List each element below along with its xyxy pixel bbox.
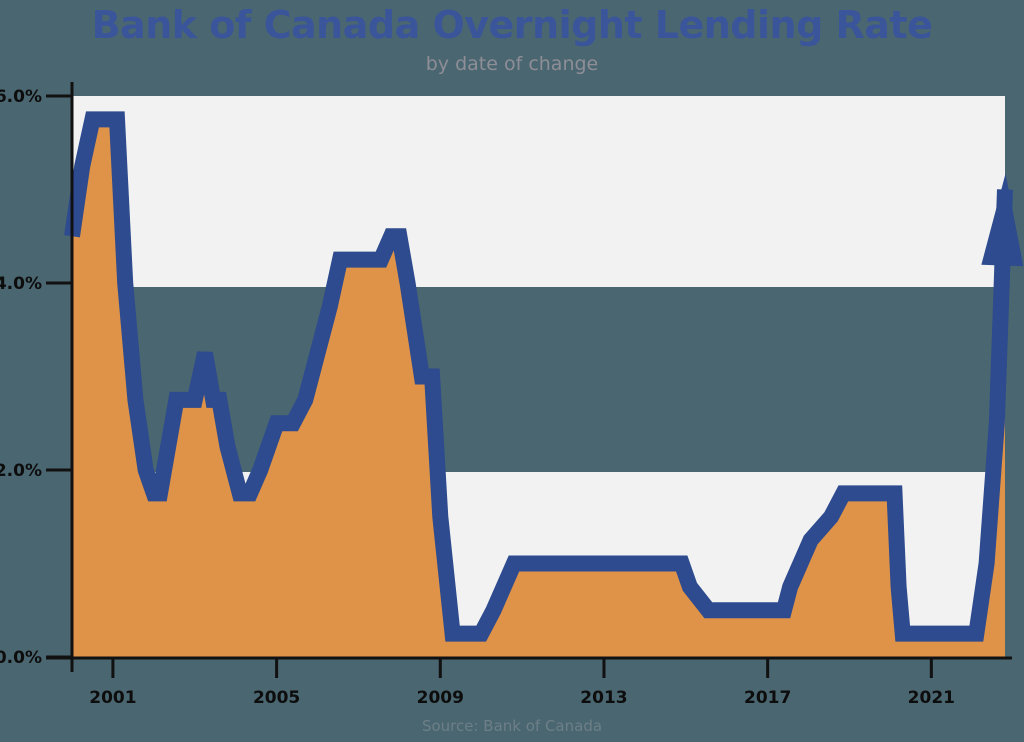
x-axis-tick-label: 2005 — [253, 688, 300, 708]
y-axis-ticks: 0.0%2.0%4.0%6.0% — [0, 87, 72, 668]
x-axis-tick-label: 2013 — [580, 688, 627, 708]
x-axis-tick-label: 2009 — [417, 688, 464, 708]
y-axis-tick-label: 6.0% — [0, 87, 42, 107]
x-axis-ticks: 200120052009201320172021 — [89, 658, 955, 708]
band-4-to-6 — [72, 96, 1005, 287]
y-axis-tick-label: 2.0% — [0, 461, 42, 481]
x-axis-tick-label: 2001 — [89, 688, 136, 708]
chart-plot-area: 0.0%2.0%4.0%6.0% 20012005200920132017202… — [0, 0, 1024, 742]
x-axis-tick-label: 2021 — [908, 688, 955, 708]
y-axis-tick-label: 0.0% — [0, 648, 42, 668]
source-caption: Source: Bank of Canada — [0, 716, 1024, 736]
y-axis-tick-label: 4.0% — [0, 274, 42, 294]
x-axis-tick-label: 2017 — [744, 688, 791, 708]
chart-figure: Bank of Canada Overnight Lending Rate by… — [0, 0, 1024, 742]
